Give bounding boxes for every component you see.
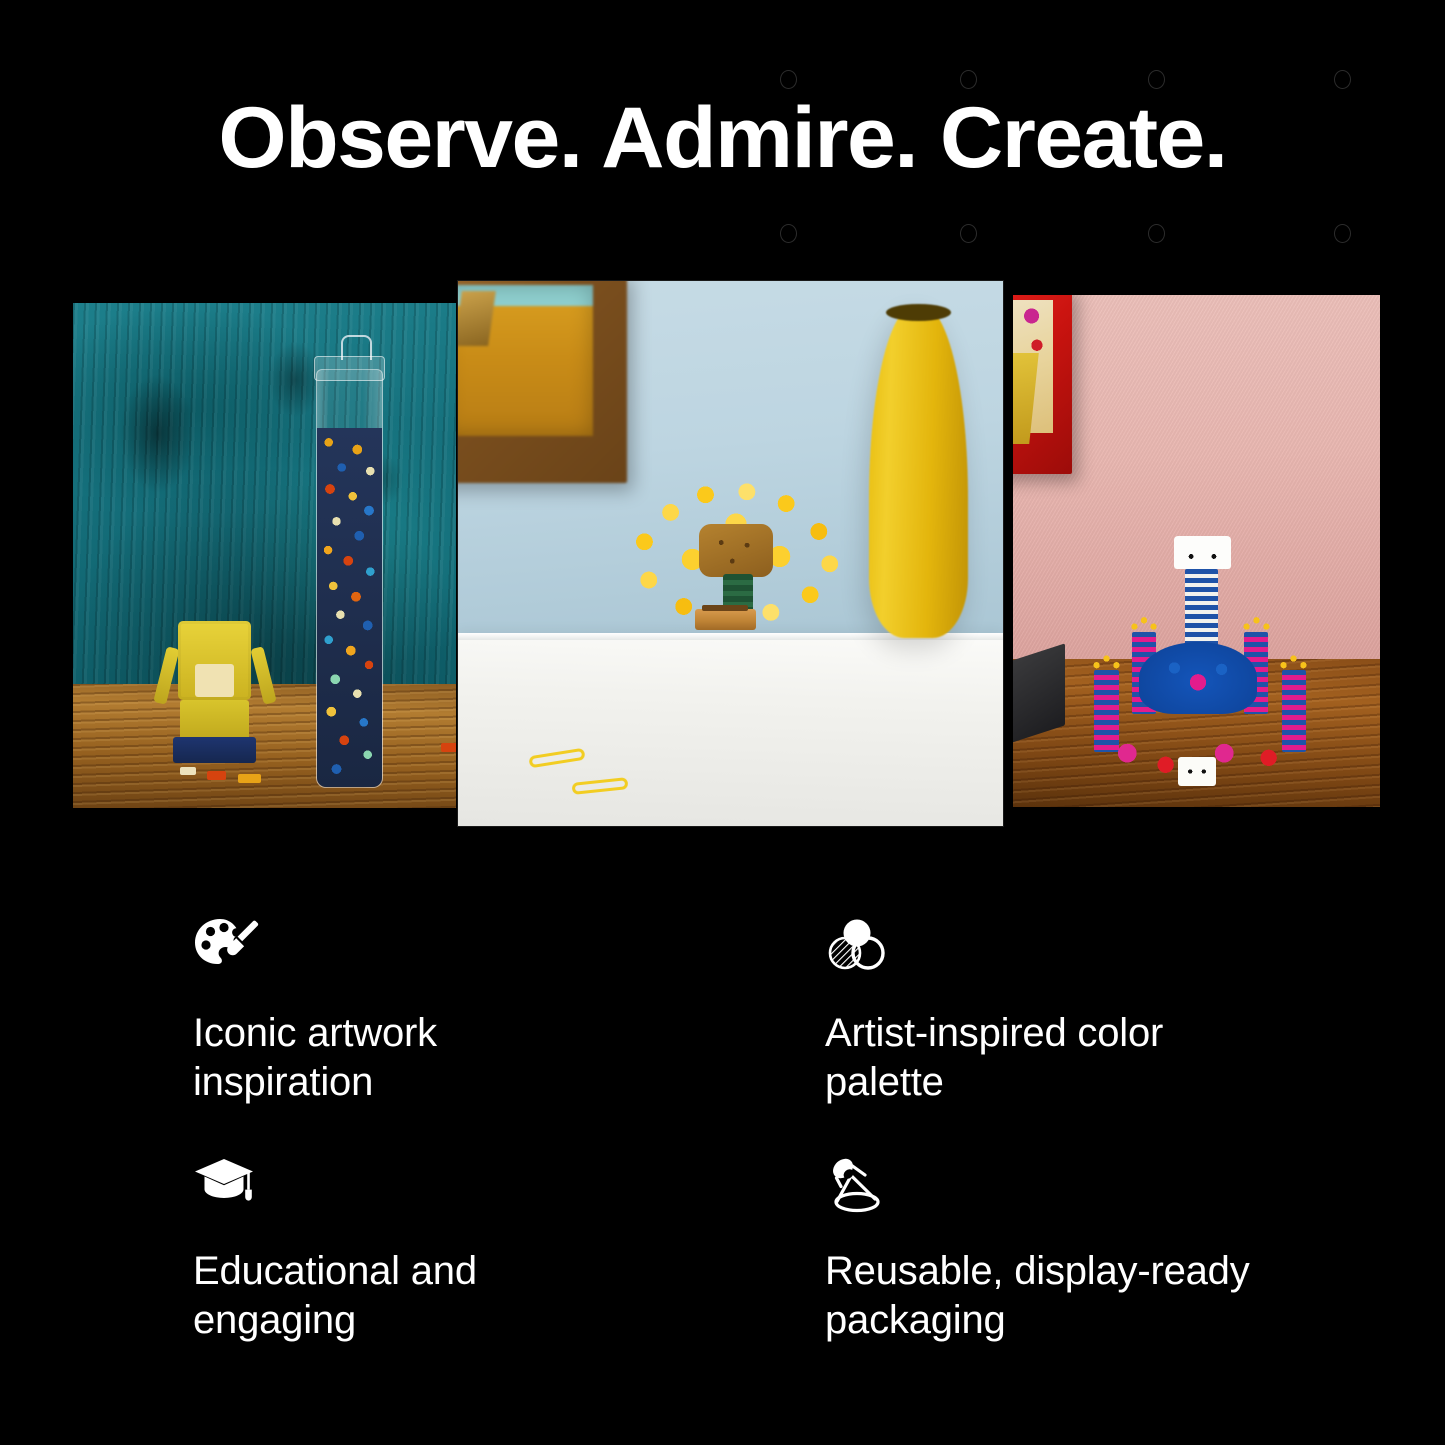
marketing-panel: Observe. Admire. Create. bbox=[0, 0, 1445, 1445]
figure-legs bbox=[173, 737, 256, 762]
feature-label: Iconic artwork inspiration bbox=[193, 1009, 673, 1107]
tube-pieces-fill bbox=[317, 428, 382, 787]
loose-piece bbox=[441, 743, 456, 752]
loose-piece bbox=[238, 774, 261, 783]
figure-arm-left bbox=[153, 646, 179, 704]
circle-outline-dot-icon bbox=[960, 224, 977, 243]
feature-iconic-artwork-inspiration: Iconic artwork inspiration bbox=[193, 917, 825, 1155]
sunflower-planter bbox=[695, 609, 756, 630]
figure-face bbox=[195, 664, 234, 698]
paint-palette-icon bbox=[193, 917, 259, 979]
built-character-figure bbox=[157, 621, 272, 762]
circle-outline-dot-icon bbox=[780, 224, 797, 243]
built-small-skull bbox=[1178, 757, 1215, 786]
feature-list: Iconic artwork inspiration Artist-inspir… bbox=[193, 917, 1383, 1345]
feature-reusable-display-ready-packaging: Reusable, display-ready packaging bbox=[825, 1155, 1383, 1345]
feature-artist-inspired-color-palette: Artist-inspired color palette bbox=[825, 917, 1383, 1155]
circle-outline-dot-icon bbox=[960, 70, 977, 89]
circle-outline-dot-icon bbox=[1148, 70, 1165, 89]
photo-desk-surface bbox=[458, 633, 1003, 826]
feature-label: Reusable, display-ready packaging bbox=[825, 1247, 1305, 1345]
photo-plus-plus-tube-and-figure bbox=[73, 303, 456, 808]
framed-painting bbox=[458, 281, 627, 483]
color-swatches-icon bbox=[825, 917, 891, 979]
built-skull-head bbox=[1174, 536, 1231, 570]
yellow-vase bbox=[869, 306, 967, 638]
headline: Observe. Admire. Create. bbox=[0, 95, 1445, 181]
feature-label: Artist-inspired color palette bbox=[825, 1009, 1305, 1107]
circle-outline-dot-icon bbox=[1334, 70, 1351, 89]
circle-outline-dot-icon bbox=[1334, 224, 1351, 243]
loose-piece bbox=[207, 771, 226, 780]
built-skeleton-spine bbox=[1185, 569, 1218, 646]
display-spotlight-icon bbox=[825, 1155, 891, 1217]
framed-artwork-red bbox=[1013, 295, 1072, 474]
built-blue-mound bbox=[1139, 642, 1258, 714]
built-skeleton-altar bbox=[1090, 536, 1310, 777]
feature-label: Educational and engaging bbox=[193, 1247, 673, 1345]
loose-piece bbox=[180, 767, 195, 775]
circle-outline-dot-icon bbox=[1148, 224, 1165, 243]
circle-outline-dot-icon bbox=[780, 70, 797, 89]
graduation-cap-icon bbox=[193, 1155, 259, 1217]
built-sunflower bbox=[627, 483, 845, 630]
feature-educational-and-engaging: Educational and engaging bbox=[193, 1155, 825, 1345]
photo-sunflower-build-on-desk bbox=[458, 281, 1003, 826]
piece-tube bbox=[316, 369, 383, 788]
photo-day-of-the-dead-altar-build bbox=[1013, 295, 1380, 807]
sunflower-center bbox=[699, 524, 773, 577]
